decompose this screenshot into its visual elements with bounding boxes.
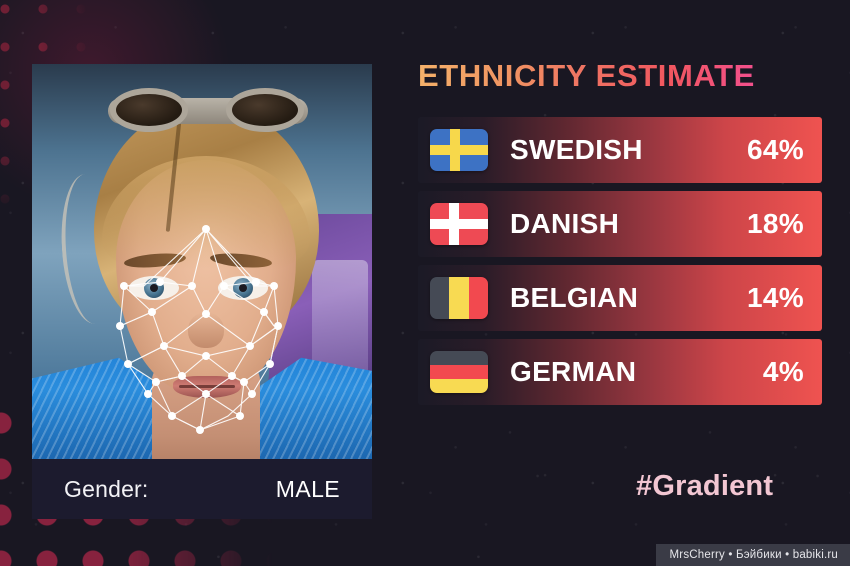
ethnicity-row-german[interactable]: GERMAN 4% <box>418 339 822 405</box>
germany-flag-icon <box>430 351 488 393</box>
ethnicity-percent-value: 64% <box>747 134 804 166</box>
attribution-bar: MrsCherry • Бэйбики • babiki.ru <box>656 544 850 566</box>
gender-panel: Gender: MALE <box>32 459 372 519</box>
watermark-hashtag: #Gradient <box>636 470 773 503</box>
ethnicity-country-label: SWEDISH <box>510 134 643 166</box>
ethnicity-estimate-screen: Gender: MALE ETHNICITY ESTIMATE SWEDISH … <box>0 0 850 566</box>
results-column: ETHNICITY ESTIMATE SWEDISH 64% DANISH 18… <box>418 60 822 405</box>
sweden-flag-icon <box>430 129 488 171</box>
ethnicity-percent-value: 18% <box>747 208 804 240</box>
denmark-flag-icon <box>430 203 488 245</box>
ethnicity-country-label: BELGIAN <box>510 282 638 314</box>
ethnicity-country-label: GERMAN <box>510 356 636 388</box>
ethnicity-row-swedish[interactable]: SWEDISH 64% <box>418 117 822 183</box>
subject-photo <box>32 64 372 459</box>
belgium-flag-icon <box>430 277 488 319</box>
gender-value: MALE <box>276 476 340 503</box>
ethnicity-list: SWEDISH 64% DANISH 18% BELGIAN 14% <box>418 117 822 405</box>
page-title: ETHNICITY ESTIMATE <box>418 60 822 91</box>
ethnicity-row-belgian[interactable]: BELGIAN 14% <box>418 265 822 331</box>
ethnicity-percent-value: 14% <box>747 282 804 314</box>
gender-label: Gender: <box>64 476 149 503</box>
ethnicity-percent-value: 4% <box>763 356 804 388</box>
ethnicity-row-danish[interactable]: DANISH 18% <box>418 191 822 257</box>
face-mesh-overlay <box>32 64 372 459</box>
ethnicity-country-label: DANISH <box>510 208 619 240</box>
